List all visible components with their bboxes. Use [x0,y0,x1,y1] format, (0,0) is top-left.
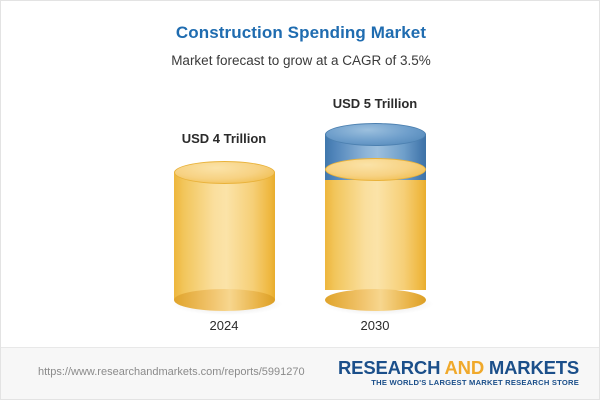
cylinder-bottom-2024 [174,289,275,311]
cylinder-bottom-2030 [325,289,426,311]
logo-word-markets: MARKETS [489,357,579,378]
category-label-2024: 2024 [144,318,304,333]
cylinder-body-2030-base [325,169,426,290]
chart-card: Construction Spending Market Market fore… [0,0,600,400]
cylinder-divider-cap-2030 [325,158,426,181]
footer: https://www.researchandmarkets.com/repor… [1,347,600,399]
cylinder-top-cap-2024 [174,161,275,184]
cylinder-body-2024-base [174,172,275,300]
logo-wordmark: RESEARCH AND MARKETS [338,358,579,377]
data-label-2024: USD 4 Trillion [144,131,304,146]
logo-tagline: THE WORLD'S LARGEST MARKET RESEARCH STOR… [338,378,579,387]
cylinder-2024 [174,161,275,306]
category-label-2030: 2030 [295,318,455,333]
report-url[interactable]: https://www.researchandmarkets.com/repor… [38,366,305,378]
data-label-2030: USD 5 Trillion [295,96,455,111]
research-and-markets-logo[interactable]: RESEARCH AND MARKETS THE WORLD'S LARGEST… [338,358,579,387]
cylinder-2030 [325,123,426,306]
plot-area: USD 4 Trillion 2024 USD 5 Trillion [1,1,600,349]
cylinder-top-cap-2030 [325,123,426,146]
logo-word-and: AND [445,357,489,378]
logo-word-research: RESEARCH [338,357,444,378]
